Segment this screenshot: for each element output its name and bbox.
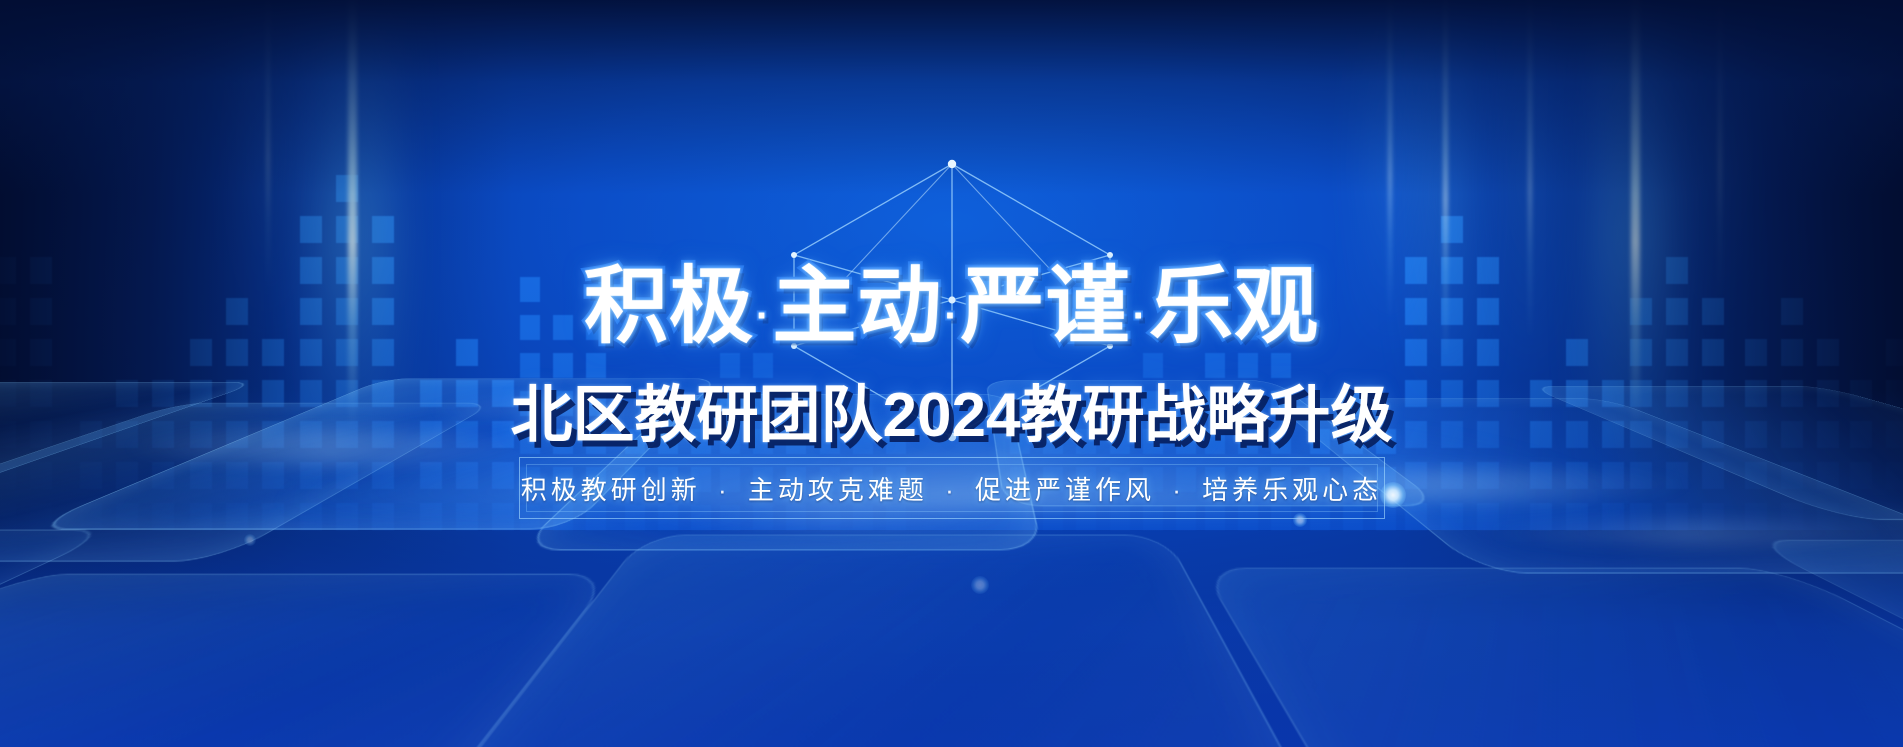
tagline-item: 培养乐观心态 <box>1202 475 1382 505</box>
tagline-item: 促进严谨作风 <box>975 475 1155 505</box>
banner-content: 积极·主动·严谨·乐观 北区教研团队2024教研战略升级 积极教研创新 · 主动… <box>0 0 1903 747</box>
subtitle: 北区教研团队2024教研战略升级 <box>511 364 1393 454</box>
tagline-separator-dot: · <box>928 475 975 505</box>
tagline-box: 积极教研创新 · 主动攻克难题 · 促进严谨作风 · 培养乐观心态 <box>519 457 1385 519</box>
tagline-separator-dot: · <box>701 475 748 505</box>
tagline-separator-dot: · <box>1155 475 1202 505</box>
tagline-item: 主动攻克难题 <box>748 475 928 505</box>
tagline-item: 积极教研创新 <box>521 475 701 505</box>
promo-banner: 积极·主动·严谨·乐观 北区教研团队2024教研战略升级 积极教研创新 · 主动… <box>0 0 1903 747</box>
tagline: 积极教研创新 · 主动攻克难题 · 促进严谨作风 · 培养乐观心态 <box>521 470 1382 507</box>
